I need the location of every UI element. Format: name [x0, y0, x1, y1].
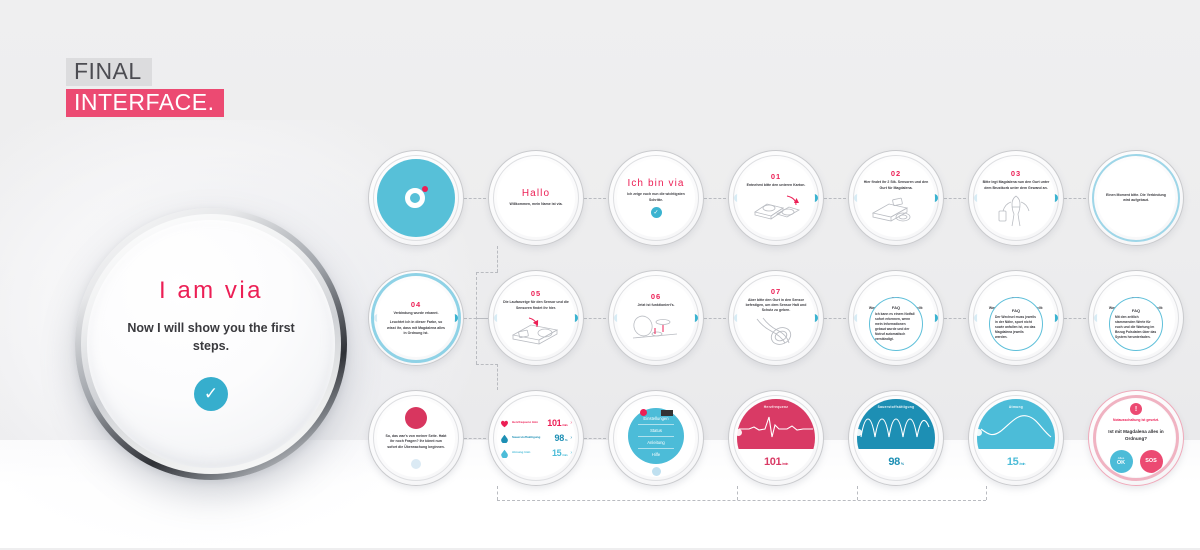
node-face — [377, 159, 455, 237]
dashboard-value: 101/min — [547, 418, 567, 428]
node-step-number: 05 — [531, 289, 541, 298]
connector — [1064, 198, 1086, 199]
node-face: ! Notausschaltung ist gesetzt. Ist mit M… — [1097, 399, 1175, 477]
connector — [497, 246, 498, 272]
node-step-02[interactable]: 02 Hier findet ihr 2 Stk. Sensoren und d… — [848, 150, 944, 246]
connector — [584, 438, 606, 439]
node-text: So, das war's von meiner Seite. Habt ihr… — [385, 434, 447, 450]
device-screen: I am via Now I will show you the first s… — [87, 220, 335, 468]
node-oxygen[interactable]: Sauerstoffsättigung 98% — [848, 390, 944, 486]
node-step-06[interactable]: 06 Jetzt ist funktioniert's. — [608, 270, 704, 366]
device-title: I am via — [159, 277, 263, 305]
connector — [476, 318, 488, 319]
prev-dot[interactable] — [855, 429, 862, 436]
node-ready[interactable]: So, das war's von meiner Seite. Habt ihr… — [368, 390, 464, 486]
node-face: Einstellungen Status Anleitung Hilfe — [617, 399, 695, 477]
node-text: Verbindung wurde erkannt. — [393, 311, 438, 316]
node-face: So, das war's von meiner Seite. Habt ihr… — [377, 399, 455, 477]
connector — [944, 198, 966, 199]
node-face: Sauerstoffsättigung 98% — [857, 399, 935, 477]
device-subtitle: Now I will show you the first steps. — [121, 319, 301, 355]
node-face: Einen Moment bitte. Die Verbindung wird … — [1097, 159, 1175, 237]
chart-label: Sauerstoffsättigung — [878, 405, 915, 409]
sos-warning: Notausschaltung ist gesetzt. — [1113, 418, 1159, 423]
node-breathing[interactable]: Atmung 15/min — [968, 390, 1064, 486]
sos-button-group: Alles OK SOS — [1110, 450, 1163, 473]
node-step-number: 06 — [651, 292, 661, 301]
heart-icon — [500, 419, 509, 428]
dashboard-list: Herzfrequenz /min 101/min › Sauerstoffsä… — [500, 418, 572, 458]
menu-list: Einstellungen Status Anleitung Hilfe — [628, 408, 684, 464]
node-face: 03 Bitte legt Magdalena nun den Gurt unt… — [977, 159, 1055, 237]
connector — [584, 198, 606, 199]
node-dashboard[interactable]: Herzfrequenz /min 101/min › Sauerstoffsä… — [488, 390, 584, 486]
node-title: Hallo — [522, 188, 550, 199]
node-step-number: 04 — [411, 300, 421, 309]
faq-question: FAQ — [1132, 308, 1140, 313]
check-icon[interactable]: ✓ — [651, 207, 662, 218]
node-sos-alert[interactable]: ! Notausschaltung ist gesetzt. Ist mit M… — [1088, 390, 1184, 486]
dashboard-value: 15/min — [552, 448, 567, 458]
node-step-01[interactable]: 01 Entnehmt bitte den unteren Karton. — [728, 150, 824, 246]
faq-answer: Ich kann es einem Notfall sofort erkenne… — [875, 312, 917, 342]
node-face: Herzfrequenz 101/min — [737, 399, 815, 477]
node-face: Atmung 15/min — [977, 399, 1055, 477]
prev-dot[interactable] — [975, 429, 982, 436]
node-text: Einen Moment bitte. Die Verbindung wird … — [1105, 193, 1167, 204]
node-step-number: 02 — [891, 169, 901, 178]
node-step-08c[interactable]: 08 Was ihr sonst noch wissen sollt: FAQ … — [1088, 270, 1184, 366]
chevron-right-icon[interactable]: › — [570, 435, 572, 441]
node-step-03[interactable]: 03 Bitte legt Magdalena nun den Gurt unt… — [968, 150, 1064, 246]
connector — [824, 198, 846, 199]
node-hallo[interactable]: Hallo Willkommen, mein Name ist via. — [488, 150, 584, 246]
menu-header — [617, 409, 695, 416]
dashboard-label: Atmung /min — [512, 451, 552, 455]
connector — [497, 500, 986, 501]
node-connect[interactable]: Einen Moment bitte. Die Verbindung wird … — [1088, 150, 1184, 246]
menu-item-3[interactable]: Hilfe — [638, 449, 674, 460]
node-text: Bitte legt Magdalena nun den Gurt unter … — [981, 180, 1051, 191]
connector — [704, 318, 726, 319]
node-face: 05 Die Laufanzeige für den Sensor und di… — [497, 279, 575, 357]
node-text: Hier findet ihr 2 Stk. Sensoren und den … — [861, 180, 931, 191]
node-text: Ich zeige euch nun die wichtigsten Schri… — [625, 192, 687, 203]
badge-line-interface: INTERFACE. — [66, 89, 224, 117]
node-step-04[interactable]: 04 Verbindung wurde erkannt. Leuchtet ic… — [368, 270, 464, 366]
node-text: Aber bitte den Gurt in den Sensor befest… — [741, 298, 811, 314]
dashboard-row-breath[interactable]: Atmung /min 15/min › — [500, 448, 572, 458]
chart-value: 98% — [888, 456, 903, 468]
sos-ok-button[interactable]: Alles OK — [1110, 450, 1133, 473]
node-text: Willkommen, mein Name ist via. — [509, 202, 562, 207]
device-box-open-icon — [747, 190, 805, 224]
dashboard-row-oxygen[interactable]: Sauerstoffsättigung 98% › — [500, 433, 572, 443]
connector — [464, 438, 486, 439]
breath-icon — [500, 449, 509, 458]
node-step-number: 03 — [1011, 169, 1021, 178]
node-step-08b[interactable]: 08 Was ihr sonst noch wissen sollt: FAQ … — [968, 270, 1064, 366]
node-step-number: 01 — [771, 172, 781, 181]
ecg-chart — [739, 411, 813, 441]
sos-alert-button[interactable]: SOS — [1140, 450, 1163, 473]
connector — [986, 486, 987, 500]
connector — [944, 318, 966, 319]
node-step-08a[interactable]: 08 Was ihr sonst noch wissen sollt: FAQ … — [848, 270, 944, 366]
check-icon[interactable]: ✓ — [194, 377, 228, 411]
dashboard-value: 98% — [555, 433, 568, 443]
menu-item-2[interactable]: Anleitung — [638, 437, 674, 449]
connector — [824, 318, 846, 319]
node-step-05[interactable]: 05 Die Laufanzeige für den Sensor und di… — [488, 270, 584, 366]
menu-footer-dot-icon — [652, 467, 661, 476]
dashboard-row-heart[interactable]: Herzfrequenz /min 101/min › — [500, 418, 572, 428]
faq-question: FAQ — [892, 305, 900, 310]
menu-item-1[interactable]: Status — [638, 425, 674, 437]
sos-ok-label: OK — [1117, 460, 1125, 466]
node-face: Ich bin via Ich zeige euch nun die wicht… — [617, 159, 695, 237]
sensor-disc-icon — [627, 310, 685, 344]
record-icon[interactable] — [640, 409, 647, 416]
chart-value: 101/min — [764, 456, 788, 468]
badge-line-final: FINAL — [66, 58, 152, 86]
device-mockup: I am via Now I will show you the first s… — [75, 208, 347, 480]
sos-alert-label: SOS — [1145, 458, 1157, 464]
node-ich-bin-via[interactable]: Ich bin via Ich zeige euch nun die wicht… — [608, 150, 704, 246]
final-interface-badge: FINAL INTERFACE. — [66, 58, 224, 117]
belt-loop-icon — [747, 315, 805, 349]
prev-dot[interactable] — [735, 429, 742, 436]
via-logo-icon — [403, 185, 429, 211]
node-step-07[interactable]: 07 Aber bitte den Gurt in den Sensor bef… — [728, 270, 824, 366]
flow-diagram: Hallo Willkommen, mein Name ist via. Ich… — [366, 150, 1194, 510]
person-belt-icon — [987, 193, 1045, 227]
node-face: 02 Hier findet ihr 2 Stk. Sensoren und d… — [857, 159, 935, 237]
node-heart-rate[interactable]: Herzfrequenz 101/min — [728, 390, 824, 486]
connector — [704, 198, 726, 199]
faq-answer: Der Wechsel muss jeweils in der Nähe, sp… — [995, 315, 1037, 340]
connector — [497, 486, 498, 500]
node-title: Ich bin via — [627, 178, 684, 189]
chart-label: Atmung — [1009, 405, 1023, 409]
chart-value: 15/min — [1007, 456, 1025, 468]
faq-inner-circle: FAQ Ich kann es einem Notfall sofort erk… — [869, 297, 923, 351]
node-face: 01 Entnehmt bitte den unteren Karton. — [737, 159, 815, 237]
node-face: 04 Verbindung wurde erkannt. Leuchtet ic… — [377, 279, 455, 357]
chart-label: Herzfrequenz — [764, 405, 788, 409]
node-text: Jetzt ist funktioniert's. — [637, 303, 674, 308]
faq-question: FAQ — [1012, 308, 1020, 313]
node-logo[interactable] — [368, 150, 464, 246]
droplet-o2-icon — [500, 434, 509, 443]
device-slot-icon — [507, 313, 565, 347]
node-text: Entnehmt bitte den unteren Karton. — [747, 183, 806, 188]
hamburger-icon[interactable] — [661, 410, 673, 416]
node-face: 06 Jetzt ist funktioniert's. — [617, 279, 695, 357]
node-text: Die Laufanzeige für den Sensor und die S… — [501, 300, 571, 311]
faq-inner-circle: FAQ Der Wechsel muss jeweils in der Nähe… — [989, 297, 1043, 351]
node-step-number: 07 — [771, 287, 781, 296]
node-text-secondary: Leuchtet ich in dieser Farbe, so wisst i… — [385, 320, 447, 336]
connector — [584, 318, 606, 319]
alert-icon: ! — [1130, 403, 1142, 415]
breathing-wave-chart — [979, 411, 1053, 441]
device-sensors-icon — [867, 193, 925, 227]
connector — [497, 364, 498, 390]
node-face: Herzfrequenz /min 101/min › Sauerstoffsä… — [497, 399, 575, 477]
dashboard-label: Herzfrequenz /min — [512, 421, 547, 425]
oxygen-wave-chart — [859, 411, 933, 441]
node-face: 07 Aber bitte den Gurt in den Sensor bef… — [737, 279, 815, 357]
node-menu[interactable]: Einstellungen Status Anleitung Hilfe — [608, 390, 704, 486]
connector — [464, 198, 486, 199]
faq-inner-circle: FAQ Mit den zeitlich stammenden Werte fü… — [1109, 297, 1163, 351]
connector — [857, 486, 858, 500]
faq-answer: Mit den zeitlich stammenden Werte für eu… — [1115, 315, 1157, 340]
node-face: Hallo Willkommen, mein Name ist via. — [497, 159, 575, 237]
status-dot-icon — [405, 407, 427, 429]
sos-question: Ist mit Magdalena alles in Ordnung? — [1107, 429, 1165, 443]
connector — [1064, 318, 1086, 319]
idle-dot-icon — [411, 459, 421, 469]
dashboard-label: Sauerstoffsättigung — [512, 436, 555, 440]
connector — [737, 486, 738, 500]
